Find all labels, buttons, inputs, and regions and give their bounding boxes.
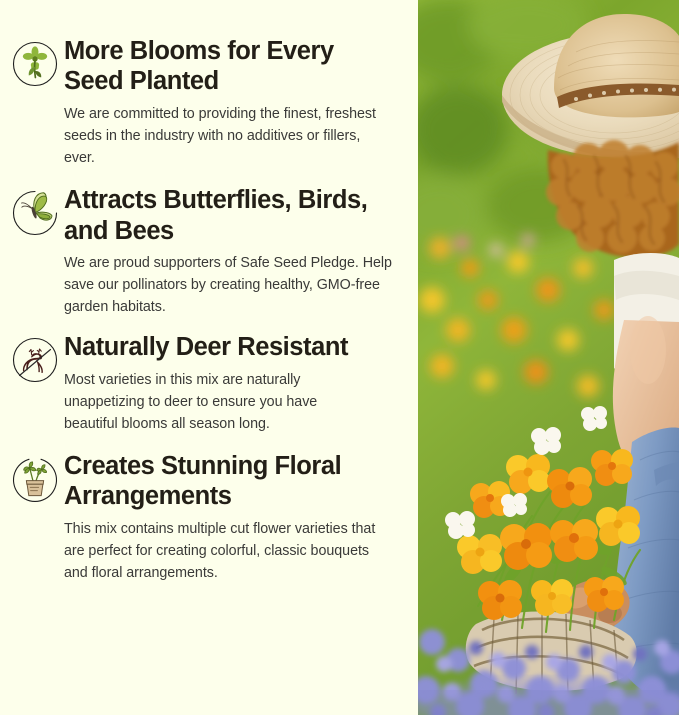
feature-title: Attracts Butterflies, Birds, and Bees: [64, 185, 392, 246]
feature-text-block: More Blooms for Every Seed Planted We ar…: [64, 36, 398, 169]
feature-icon-container: [6, 36, 64, 88]
feature-icon-container: [6, 451, 64, 503]
photo-illustration: [418, 0, 679, 715]
product-feature-panel: More Blooms for Every Seed Planted We ar…: [0, 0, 679, 715]
features-list: More Blooms for Every Seed Planted We ar…: [0, 0, 418, 715]
no-deer-icon: [11, 336, 59, 384]
feature-title: More Blooms for Every Seed Planted: [64, 36, 392, 97]
feature-item-attracts-pollinators: Attracts Butterflies, Birds, and Bees We…: [6, 185, 398, 318]
feature-description: We are committed to providing the finest…: [64, 103, 382, 169]
feature-text-block: Naturally Deer Resistant Most varieties …: [64, 332, 398, 435]
feature-item-floral-arrangements: Creates Stunning Floral Arrangements Thi…: [6, 451, 398, 584]
feature-icon-container: [6, 332, 64, 384]
flower-sprout-icon: [11, 40, 59, 88]
feature-item-deer-resistant: Naturally Deer Resistant Most varieties …: [6, 332, 398, 435]
feature-title: Naturally Deer Resistant: [64, 332, 392, 362]
gardener-with-poppy-bouquet-photo: [418, 0, 679, 715]
potted-plant-icon: [11, 455, 59, 503]
feature-title: Creates Stunning Floral Arrangements: [64, 451, 392, 512]
feature-icon-container: [6, 185, 64, 237]
feature-text-block: Attracts Butterflies, Birds, and Bees We…: [64, 185, 398, 318]
feature-description: We are proud supporters of Safe Seed Ple…: [64, 252, 392, 318]
feature-text-block: Creates Stunning Floral Arrangements Thi…: [64, 451, 398, 584]
feature-item-more-blooms: More Blooms for Every Seed Planted We ar…: [6, 36, 398, 169]
butterfly-icon: [11, 189, 59, 237]
feature-description: This mix contains multiple cut flower va…: [64, 518, 392, 584]
feature-description: Most varieties in this mix are naturally…: [64, 369, 374, 435]
